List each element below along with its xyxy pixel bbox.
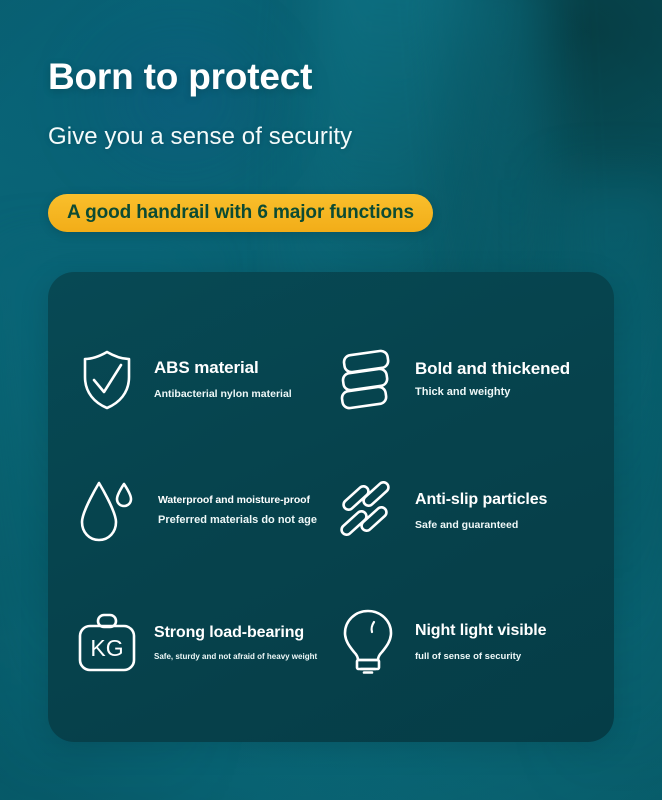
feature-text: Night light visible full of sense of sec… (415, 621, 546, 663)
promo-page: Born to protect Give you a sense of secu… (0, 0, 662, 800)
kg-weight-icon: KG (74, 607, 140, 677)
page-title: Born to protect (48, 58, 628, 97)
kg-icon-label: KG (90, 635, 123, 661)
feature-subtitle: Antibacterial nylon material (154, 388, 292, 401)
feature-item-night-light: Night light visible full of sense of sec… (335, 577, 596, 708)
header-block: Born to protect Give you a sense of secu… (48, 58, 628, 151)
feature-title: Strong load-bearing (154, 623, 317, 642)
stacked-layers-icon (335, 345, 401, 415)
feature-title: Night light visible (415, 621, 546, 640)
page-subtitle: Give you a sense of security (48, 123, 628, 151)
feature-title: Bold and thickened (415, 359, 570, 379)
feature-text: ABS material Antibacterial nylon materia… (154, 358, 292, 401)
feature-text: Anti-slip particles Safe and guaranteed (415, 490, 547, 531)
feature-text: Bold and thickened Thick and weighty (415, 359, 570, 400)
anti-slip-lines-icon (335, 476, 401, 546)
feature-subtitle: Safe, sturdy and not afraid of heavy wei… (154, 652, 317, 662)
features-card: ABS material Antibacterial nylon materia… (48, 272, 614, 742)
feature-title: ABS material (154, 358, 292, 378)
features-grid: ABS material Antibacterial nylon materia… (48, 272, 614, 742)
feature-item-load-bearing: KG Strong load-bearing Safe, sturdy and … (74, 577, 335, 708)
feature-subtitle: Safe and guaranteed (415, 519, 547, 532)
water-drop-icon (74, 476, 140, 546)
feature-title: Anti-slip particles (415, 490, 547, 509)
feature-title: Waterproof and moisture-proof (158, 494, 317, 507)
shield-check-icon (74, 345, 140, 415)
feature-item-waterproof: Waterproof and moisture-proof Preferred … (74, 445, 335, 576)
feature-subtitle: Thick and weighty (415, 386, 570, 400)
feature-text: Waterproof and moisture-proof Preferred … (154, 494, 317, 527)
light-bulb-icon (335, 607, 401, 677)
feature-subtitle: Preferred materials do not age (158, 514, 317, 528)
feature-text: Strong load-bearing Safe, sturdy and not… (154, 623, 317, 662)
feature-item-abs-material: ABS material Antibacterial nylon materia… (74, 314, 335, 445)
feature-count-badge: A good handrail with 6 major functions (48, 194, 433, 232)
feature-item-bold-thickened: Bold and thickened Thick and weighty (335, 314, 596, 445)
feature-item-anti-slip: Anti-slip particles Safe and guaranteed (335, 445, 596, 576)
feature-subtitle: full of sense of security (415, 651, 546, 663)
